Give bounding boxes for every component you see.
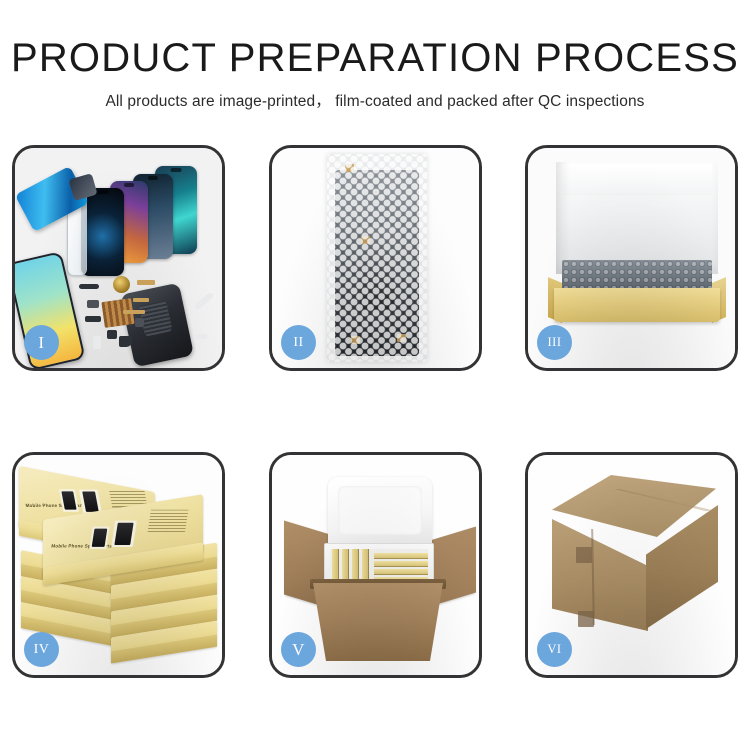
carton-flap-tab-icon	[578, 611, 594, 627]
step-badge-4: IV	[24, 632, 59, 667]
screwdriver-tool-icon	[195, 334, 207, 339]
phone-back-shell-icon	[120, 283, 194, 368]
process-panel-grid: I II III	[0, 0, 750, 750]
yellow-box-flat-icon	[374, 569, 428, 575]
connector-part-icon	[85, 316, 101, 322]
antenna-strip-part-icon	[79, 284, 99, 289]
step-badge-6: VI	[537, 632, 572, 667]
yellow-box-flat-icon	[374, 553, 428, 559]
flex-cable-part-icon	[137, 280, 155, 285]
open-inner-box-photo: III	[528, 148, 735, 368]
stacked-printed-boxes-photo: Mobile Phone Spare Parts Mobile Phone Sp…	[15, 455, 222, 675]
step-badge-2: II	[281, 325, 316, 360]
sim-tray-part-icon	[93, 336, 101, 349]
box-spec-lines-icon	[148, 510, 189, 532]
camera-module-part-icon	[107, 330, 117, 339]
process-step-panel-6[interactable]: VI	[525, 452, 738, 678]
process-step-panel-2[interactable]: II	[269, 145, 482, 371]
speaker-coin-part-icon	[113, 276, 130, 293]
tweezers-tool-icon	[194, 292, 215, 311]
yellow-box-flat-icon	[374, 561, 428, 567]
process-step-panel-4[interactable]: Mobile Phone Spare Parts Mobile Phone Sp…	[12, 452, 225, 678]
bubble-texture-overlay-icon	[327, 154, 427, 362]
process-step-panel-1[interactable]: I	[12, 145, 225, 371]
carton-with-foam-insert-photo: V	[272, 455, 479, 675]
white-foam-lid-icon	[556, 162, 718, 274]
vibrator-part-icon	[119, 336, 132, 347]
box-window-screen-icon	[59, 489, 79, 511]
process-step-panel-3[interactable]: III	[525, 145, 738, 371]
carton-front-face-icon	[313, 583, 443, 661]
carton-flap-tab-icon	[576, 547, 592, 563]
screw-plate-part-icon	[135, 318, 144, 327]
flex-cable-part-icon	[133, 298, 149, 302]
phone-parts-collage-photo: I	[15, 148, 222, 368]
step-badge-5: V	[281, 632, 316, 667]
bubble-wrap-pouch-icon	[327, 154, 427, 362]
carton-left-face-icon	[552, 519, 648, 631]
yellow-box-front-icon	[554, 288, 720, 322]
flex-cable-part-icon	[123, 310, 145, 314]
foam-box-lid-icon	[328, 477, 432, 547]
step-badge-3: III	[537, 325, 572, 360]
step-badge-1: I	[24, 325, 59, 360]
box-window-screen-icon	[111, 521, 137, 547]
box-window-screen-icon	[89, 527, 109, 549]
bubble-wrapped-screen-photo: II	[272, 148, 479, 368]
sealed-shipping-carton-photo: VI	[528, 455, 735, 675]
small-bracket-part-icon	[87, 300, 99, 308]
process-step-panel-5[interactable]: V	[269, 452, 482, 678]
